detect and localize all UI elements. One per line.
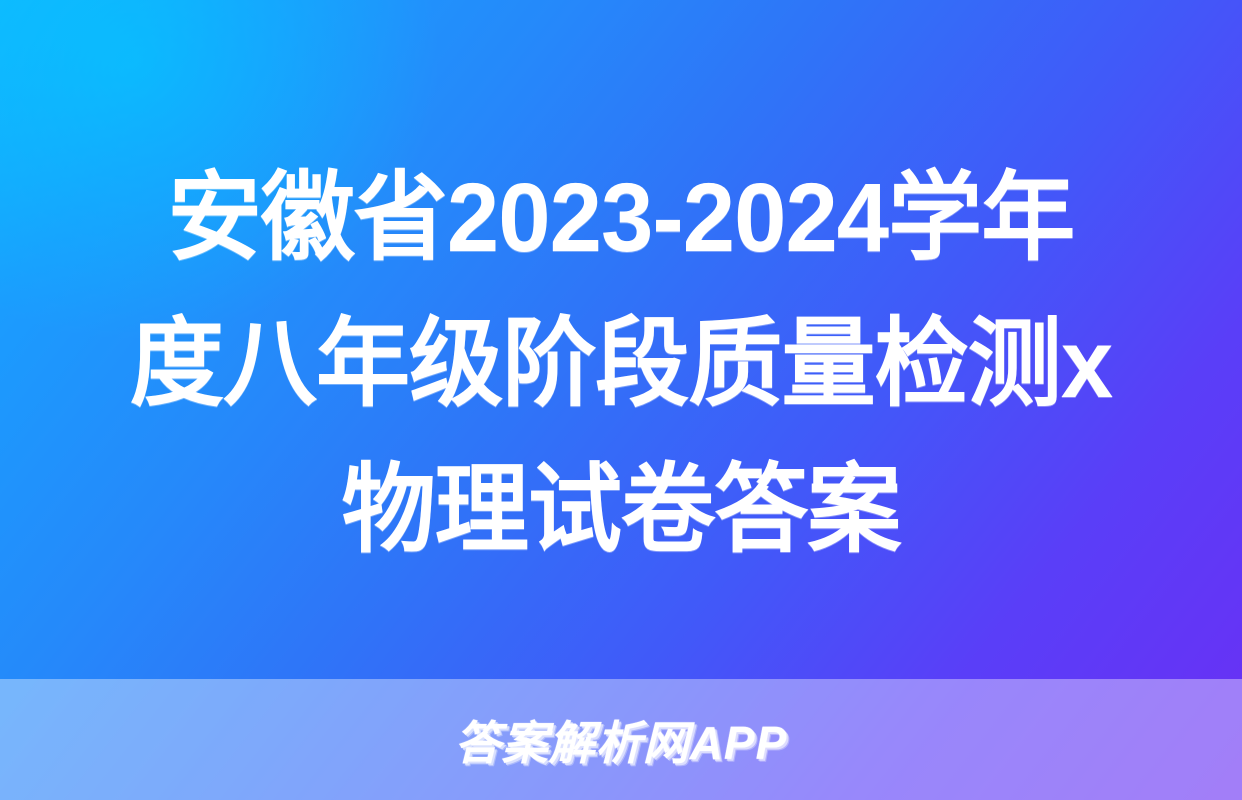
title-line-3: 物理试卷答案	[107, 437, 1135, 583]
title-line-2: 度八年级阶段质量检测x	[107, 291, 1135, 437]
app-watermark: 答案解析网APP	[455, 720, 788, 766]
share-card: 安徽省2023-2024学年 度八年级阶段质量检测x 物理试卷答案 答案解析网A…	[0, 0, 1242, 800]
title-line-1: 安徽省2023-2024学年	[107, 145, 1135, 291]
title-block: 安徽省2023-2024学年 度八年级阶段质量检测x 物理试卷答案	[0, 0, 1242, 680]
footer-band: 答案解析网APP	[0, 679, 1242, 800]
